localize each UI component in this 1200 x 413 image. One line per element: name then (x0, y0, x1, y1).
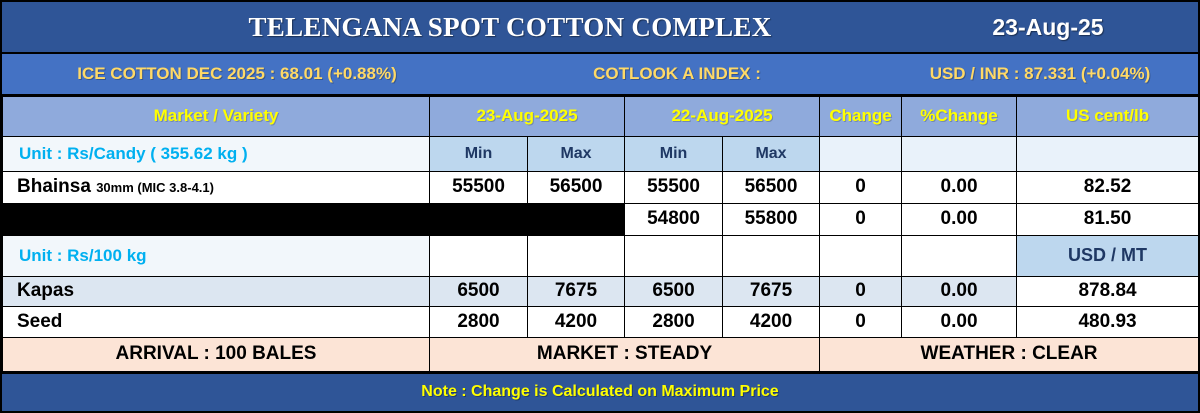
table-row: Seed 2800 4200 2800 4200 0 0.00 480.93 (3, 306, 1199, 337)
cell-prev-min: 54800 (625, 203, 723, 235)
ticker-ice-cotton: ICE COTTON DEC 2025 : 68.01 (+0.88%) (2, 64, 472, 84)
cell-prev-max: 7675 (723, 276, 820, 306)
unit100-pct-blank (902, 235, 1017, 276)
status-footer-row: ARRIVAL : 100 BALES MARKET : STEADY WEAT… (3, 337, 1199, 371)
subheader-prev-max: Max (723, 136, 820, 171)
cell-today-min: 6500 (430, 276, 528, 306)
cell-us-cent: 878.84 (1017, 276, 1199, 306)
unit-100kg-row: Unit : Rs/100 kg USD / MT (3, 235, 1199, 276)
col-header-date-today: 23-Aug-2025 (430, 96, 625, 136)
cell-prev-max: 56500 (723, 171, 820, 203)
table-row: 54800 55800 0 0.00 81.50 (3, 203, 1199, 235)
price-table: Market / Variety 23-Aug-2025 22-Aug-2025… (2, 96, 1199, 372)
ticker-cotlook-index: COTLOOK A INDEX : (472, 64, 882, 84)
ticker-usd-inr: USD / INR : 87.331 (+0.04%) (882, 64, 1198, 84)
row-label-kapas: Kapas (3, 276, 430, 306)
status-market: MARKET : STEADY (430, 337, 820, 371)
col-header-pct-change: %Change (902, 96, 1017, 136)
cell-pct-change: 0.00 (902, 306, 1017, 337)
note-bar: Note : Change is Calculated on Maximum P… (2, 372, 1198, 411)
cell-us-cent: 81.50 (1017, 203, 1199, 235)
col-header-us-cent: US cent/lb (1017, 96, 1199, 136)
status-weather: WEATHER : CLEAR (820, 337, 1199, 371)
variety-spec: 30mm (MIC 3.8-4.1) (96, 180, 214, 195)
cell-today-max (528, 203, 625, 235)
usd-mt-badge: USD / MT (1017, 235, 1199, 276)
cell-today-min (430, 203, 528, 235)
cell-prev-max: 4200 (723, 306, 820, 337)
cell-today-min: 55500 (430, 171, 528, 203)
cell-change: 0 (820, 171, 902, 203)
cell-change: 0 (820, 306, 902, 337)
table-row: Bhainsa 30mm (MIC 3.8-4.1) 55500 56500 5… (3, 171, 1199, 203)
note-text: Note : Change is Calculated on Maximum P… (421, 383, 778, 401)
table-row: Kapas 6500 7675 6500 7675 0 0.00 878.84 (3, 276, 1199, 306)
col-header-date-prev: 22-Aug-2025 (625, 96, 820, 136)
cell-us-cent: 82.52 (1017, 171, 1199, 203)
cell-prev-max: 55800 (723, 203, 820, 235)
cell-pct-change: 0.00 (902, 171, 1017, 203)
cell-pct-change: 0.00 (902, 276, 1017, 306)
cell-prev-min: 2800 (625, 306, 723, 337)
unit-label-candy: Unit : Rs/Candy ( 355.62 kg ) (3, 136, 430, 171)
unit-row-uscent-blank (1017, 136, 1199, 171)
subheader-today-max: Max (528, 136, 625, 171)
variety-name: Bhainsa (17, 176, 91, 197)
cell-prev-min: 6500 (625, 276, 723, 306)
subheader-prev-min: Min (625, 136, 723, 171)
cell-change: 0 (820, 276, 902, 306)
unit100-today-max-blank (528, 235, 625, 276)
row-label-bhainsa: Bhainsa 30mm (MIC 3.8-4.1) (3, 171, 430, 203)
cell-prev-min: 55500 (625, 171, 723, 203)
cell-today-max: 56500 (528, 171, 625, 203)
page-title: TELENGANA SPOT COTTON COMPLEX (2, 12, 898, 43)
unit100-change-blank (820, 235, 902, 276)
cotton-complex-report: TELENGANA SPOT COTTON COMPLEX 23-Aug-25 … (0, 0, 1200, 413)
cell-today-max: 7675 (528, 276, 625, 306)
col-header-market: Market / Variety (3, 96, 430, 136)
unit100-today-min-blank (430, 235, 528, 276)
table-header-row: Market / Variety 23-Aug-2025 22-Aug-2025… (3, 96, 1199, 136)
cell-today-max: 4200 (528, 306, 625, 337)
subheader-today-min: Min (430, 136, 528, 171)
unit-row-change-blank (820, 136, 902, 171)
unit100-prev-max-blank (723, 235, 820, 276)
status-arrival: ARRIVAL : 100 BALES (3, 337, 430, 371)
cell-us-cent: 480.93 (1017, 306, 1199, 337)
ticker-bar: ICE COTTON DEC 2025 : 68.01 (+0.88%) COT… (2, 54, 1198, 95)
col-header-change: Change (820, 96, 902, 136)
unit-row-pct-blank (902, 136, 1017, 171)
row-label-seed: Seed (3, 306, 430, 337)
unit-candy-row: Unit : Rs/Candy ( 355.62 kg ) Min Max Mi… (3, 136, 1199, 171)
title-bar: TELENGANA SPOT COTTON COMPLEX 23-Aug-25 (2, 2, 1198, 54)
unit-label-100kg: Unit : Rs/100 kg (3, 235, 430, 276)
cell-today-min: 2800 (430, 306, 528, 337)
cell-change: 0 (820, 203, 902, 235)
cell-pct-change: 0.00 (902, 203, 1017, 235)
report-date: 23-Aug-25 (898, 14, 1198, 41)
unit100-prev-min-blank (625, 235, 723, 276)
row-label-hidden (3, 203, 430, 235)
